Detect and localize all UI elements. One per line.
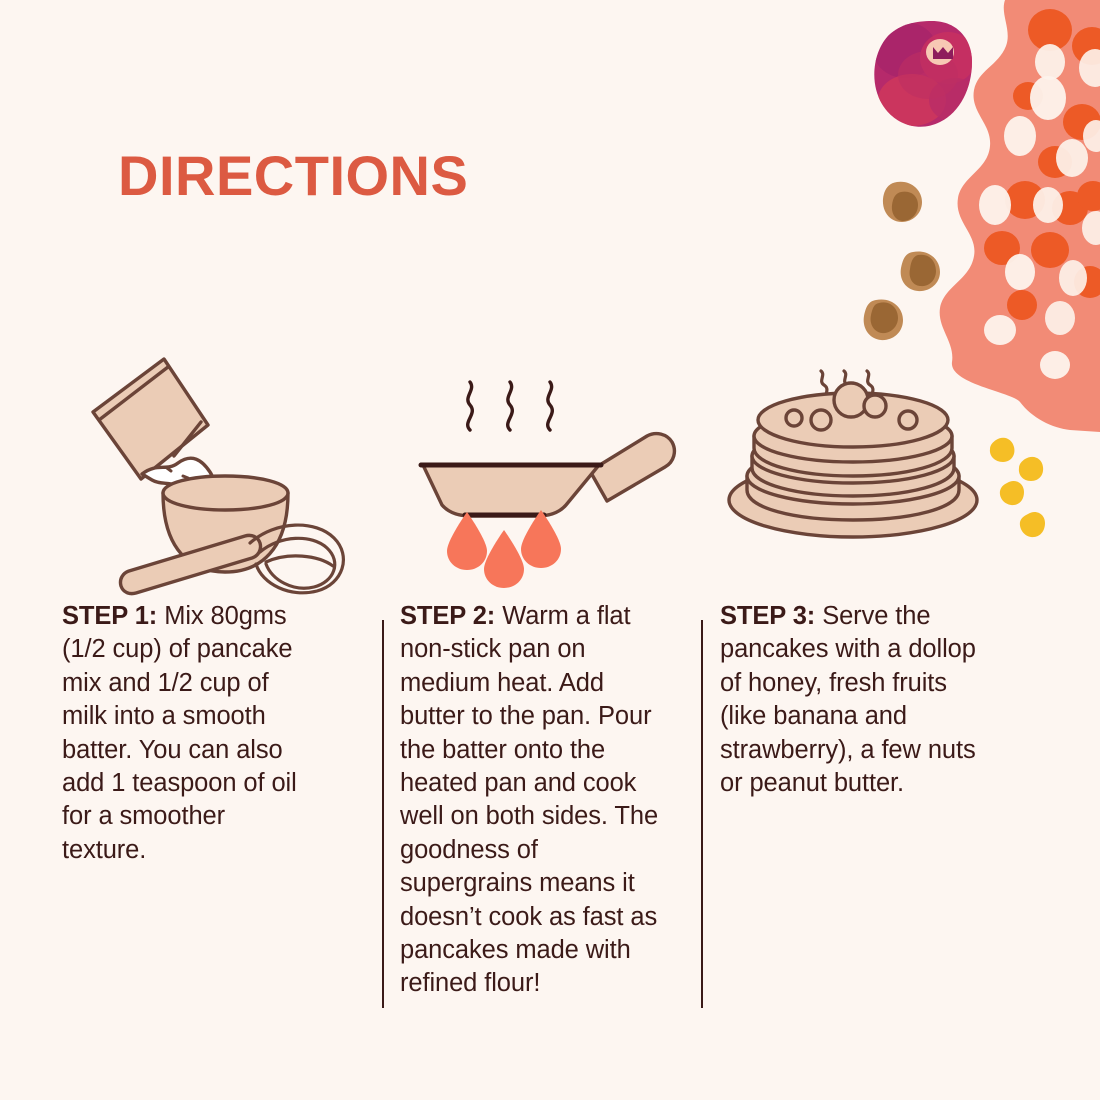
step-3-body: Serve the pancakes with a dollop of hone… xyxy=(720,602,976,797)
flame-drops xyxy=(447,510,561,588)
berry-decoration xyxy=(870,15,985,135)
step-3-illustration xyxy=(720,350,1005,600)
column-divider-2 xyxy=(701,620,703,1008)
step-1-text: STEP 1: Mix 80gms (1/2 cup) of pancake m… xyxy=(62,600,308,867)
step-column-3: STEP 3: Serve the pancakes with a dollop… xyxy=(720,350,1005,800)
nut-1 xyxy=(883,182,922,222)
step-1-label: STEP 1: xyxy=(62,602,157,630)
step-2-illustration xyxy=(400,350,685,600)
drop-2 xyxy=(1019,457,1043,481)
step-column-1: STEP 1: Mix 80gms (1/2 cup) of pancake m… xyxy=(62,350,362,867)
nut-3 xyxy=(864,299,903,340)
step-2-text: STEP 2: Warm a flat non-stick pan on med… xyxy=(400,600,668,1001)
flour-packet-bowl-whisk-icon xyxy=(62,350,362,600)
column-divider-1 xyxy=(382,620,384,1008)
step-2-body: Warm a flat non-stick pan on medium heat… xyxy=(400,602,658,997)
step-column-2: STEP 2: Warm a flat non-stick pan on med… xyxy=(400,350,685,1001)
nut-2 xyxy=(901,251,940,291)
pancake-stack-icon xyxy=(720,350,1005,600)
page-title: DIRECTIONS xyxy=(118,148,468,204)
directions-poster: DIRECTIONS xyxy=(0,0,1100,1100)
nut-decoration-group xyxy=(864,182,940,340)
step-3-label: STEP 3: xyxy=(720,602,815,630)
step-2-label: STEP 2: xyxy=(400,602,495,630)
step-1-illustration xyxy=(62,350,362,600)
frying-pan-icon xyxy=(400,350,685,600)
drop-4 xyxy=(1020,512,1045,537)
step-3-text: STEP 3: Serve the pancakes with a dollop… xyxy=(720,600,990,800)
step-1-body: Mix 80gms (1/2 cup) of pancake mix and 1… xyxy=(62,602,297,864)
